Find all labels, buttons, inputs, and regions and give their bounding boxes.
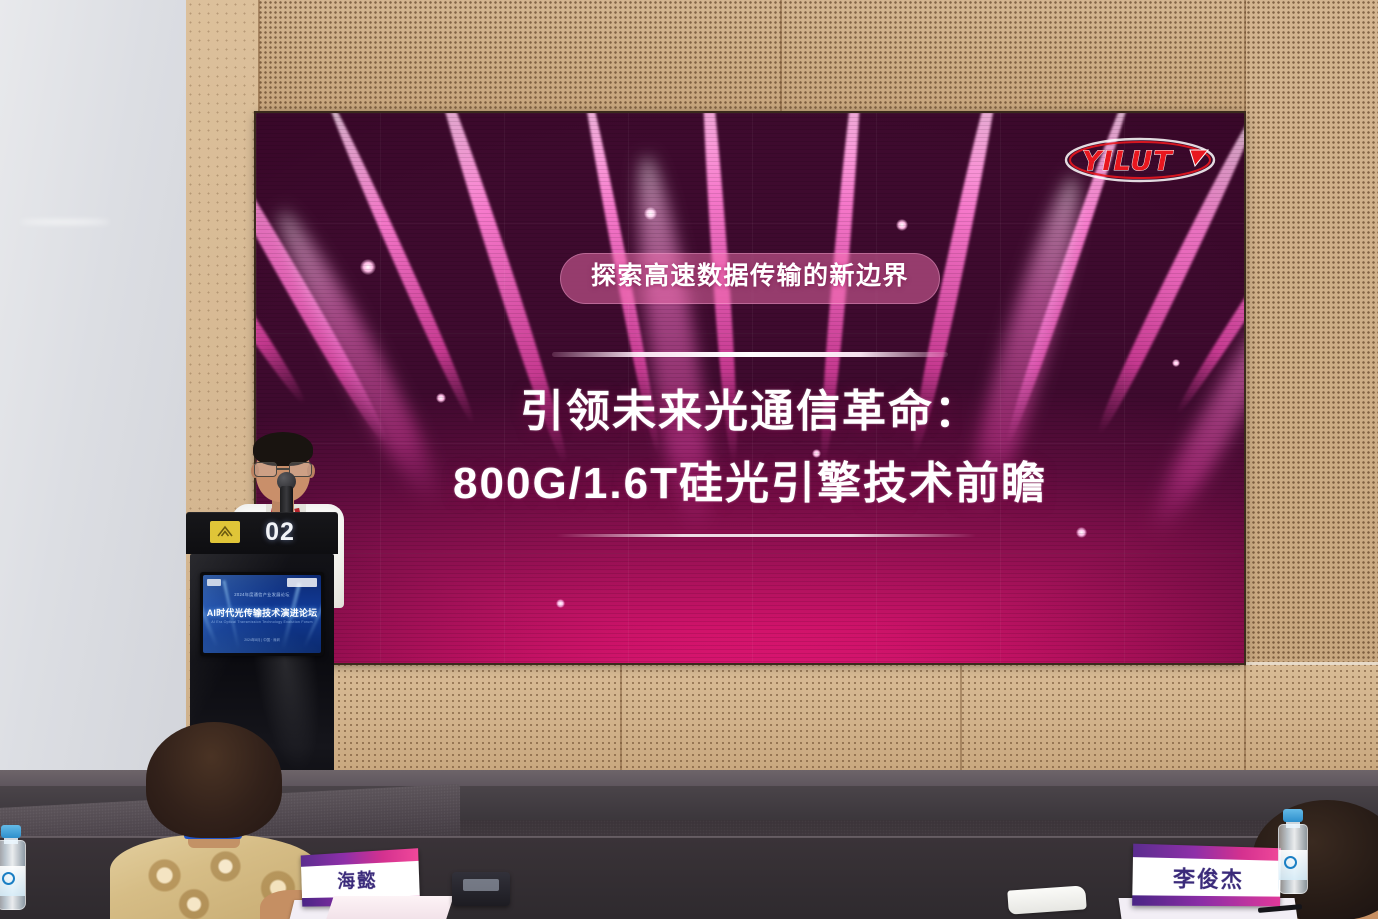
audience-hair — [146, 722, 282, 838]
monitor-sub-title: AI Era Optical Transmission Technology E… — [203, 620, 321, 624]
presentation-remote — [452, 872, 510, 906]
title-divider — [552, 352, 948, 357]
bottle-cap-icon — [1283, 809, 1303, 822]
wood-panel-top-strip — [258, 0, 1378, 114]
water-bottle-left — [0, 826, 26, 910]
svg-text:YILUT: YILUT — [1082, 146, 1174, 177]
led-presentation-screen: YILUT 探索高速数据传输的新边界 引领未来光通信革命： 800G/1.6T硅… — [256, 113, 1244, 663]
audience-member-front-left — [110, 722, 320, 919]
water-bottle-right — [1278, 810, 1308, 894]
paper-sheet — [326, 896, 453, 919]
speaker-hair — [253, 432, 313, 466]
slide-title-line-1: 引领未来光通信革命： — [520, 389, 980, 435]
podium-position-number: 02 — [252, 517, 308, 547]
bottle-cap-icon — [1, 825, 21, 838]
organizer-logo-icon — [210, 521, 240, 543]
slide-subtitle-badge: 探索高速数据传输的新边界 — [560, 253, 940, 304]
slide-title-line-2: 800G/1.6T硅光引擎技术前瞻 — [453, 461, 1047, 507]
name-placard-right: 李俊杰 — [1132, 844, 1281, 907]
placard-name-text: 海懿 — [301, 863, 419, 894]
monitor-screen: 2024年度通信产业发展论坛 AI时代光传输技术演进论坛 AI Era Opti… — [203, 575, 321, 653]
monitor-logo-left-icon — [207, 579, 221, 586]
placard-name-text: 李俊杰 — [1132, 860, 1280, 895]
panel-seam — [1244, 0, 1246, 818]
monitor-pre-title: 2024年度通信产业发展论坛 — [203, 592, 321, 598]
podium-top-panel: 02 — [186, 512, 338, 554]
conference-photo-scene: YILUT 探索高速数据传输的新边界 引领未来光通信革命： 800G/1.6T硅… — [0, 0, 1378, 919]
placard-bottom-band — [1132, 896, 1280, 907]
slide-text-block: 探索高速数据传输的新边界 引领未来光通信革命： 800G/1.6T硅光引擎技术前… — [256, 253, 1244, 507]
slide-bottom-divider — [556, 534, 976, 537]
panel-seam — [780, 0, 782, 114]
monitor-main-title: AI时代光传输技术演进论坛 — [203, 606, 321, 619]
yilut-brand-logo-icon: YILUT — [1062, 133, 1218, 187]
podium-confidence-monitor: 2024年度通信产业发展论坛 AI时代光传输技术演进论坛 AI Era Opti… — [200, 572, 324, 656]
monitor-logo-right-icon — [287, 578, 317, 587]
monitor-footer: 2024年8月 | 中国 · 深圳 — [203, 637, 321, 642]
